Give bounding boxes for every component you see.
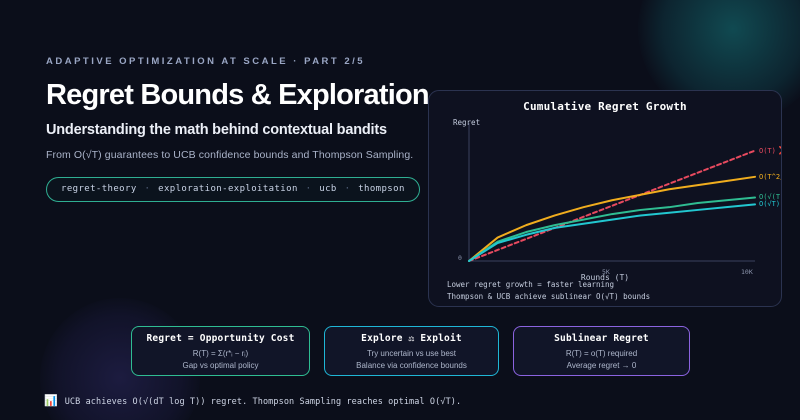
page-subtitle: Understanding the math behind contextual… [46, 122, 416, 138]
card-title: Explore ⚖ Exploit [325, 333, 498, 344]
tag-pill[interactable]: regret-theory · exploration-exploitation… [46, 177, 420, 202]
series-path-3 [469, 204, 755, 261]
card-title: Regret = Opportunity Cost [132, 333, 309, 344]
page-lede: From O(√T) guarantees to UCB confidence … [46, 149, 416, 161]
chart-panel: Cumulative Regret Growth Regret 0 5K 10K… [428, 90, 782, 307]
card-sublinear-regret[interactable]: Sublinear Regret R(T) = o(T) required Av… [513, 326, 690, 376]
eyebrow-label: ADAPTIVE OPTIMIZATION AT SCALE · PART 2/… [46, 56, 416, 67]
tag-item-1[interactable]: exploration-exploitation [158, 184, 298, 194]
card-line-2: Gap vs optimal policy [132, 361, 309, 370]
series-badge-error-icon: ❌ [776, 146, 782, 155]
series-label-twothirds: O(T^2/3)⚠️ [759, 172, 782, 181]
tag-item-2[interactable]: ucb [319, 184, 336, 194]
series-path-2 [469, 198, 755, 261]
footer-bar: 📊 UCB achieves O(√(dT log T)) regret. Th… [44, 396, 461, 407]
tag-item-0[interactable]: regret-theory [61, 184, 137, 194]
card-line-1: R(T) = Σ(r*ᵢ − rᵢ) [132, 349, 309, 358]
series-path-0 [469, 151, 755, 261]
card-explore-exploit[interactable]: Explore ⚖ Exploit Try uncertain vs use b… [324, 326, 499, 376]
page-title: Regret Bounds & Exploration [46, 80, 416, 111]
series-badge-check-icon: ✓ [780, 199, 782, 208]
series-label-text: O(T^2/3) [759, 173, 782, 181]
x-tick-0: 0 [458, 254, 462, 262]
slide-root: ADAPTIVE OPTIMIZATION AT SCALE · PART 2/… [0, 0, 800, 420]
concept-cards: Regret = Opportunity Cost R(T) = Σ(r*ᵢ −… [131, 326, 690, 376]
series-label-sqrt: O(√T)✓ [759, 199, 782, 208]
card-title: Sublinear Regret [514, 333, 689, 344]
chart-note-2: Thompson & UCB achieve sublinear O(√T) b… [447, 292, 650, 301]
tag-separator: · [304, 184, 314, 194]
card-line-2: Balance via confidence bounds [325, 361, 498, 370]
card-line-1: Try uncertain vs use best [325, 349, 498, 358]
tag-separator: · [142, 184, 152, 194]
footer-text: UCB achieves O(√(dT log T)) regret. Thom… [65, 397, 462, 407]
tag-item-3[interactable]: thompson [358, 184, 405, 194]
tag-separator: · [343, 184, 353, 194]
series-label-text: O(T) [759, 147, 776, 155]
card-regret-definition[interactable]: Regret = Opportunity Cost R(T) = Σ(r*ᵢ −… [131, 326, 310, 376]
card-line-1: R(T) = o(T) required [514, 349, 689, 358]
series-label-text: O(√T) [759, 200, 780, 208]
bar-chart-icon: 📊 [44, 396, 58, 407]
chart-note-1: Lower regret growth = faster learning [447, 280, 614, 289]
card-line-2: Average regret → 0 [514, 361, 689, 370]
series-label-linear: O(T)❌ [759, 146, 782, 155]
headline-block: ADAPTIVE OPTIMIZATION AT SCALE · PART 2/… [46, 56, 416, 202]
